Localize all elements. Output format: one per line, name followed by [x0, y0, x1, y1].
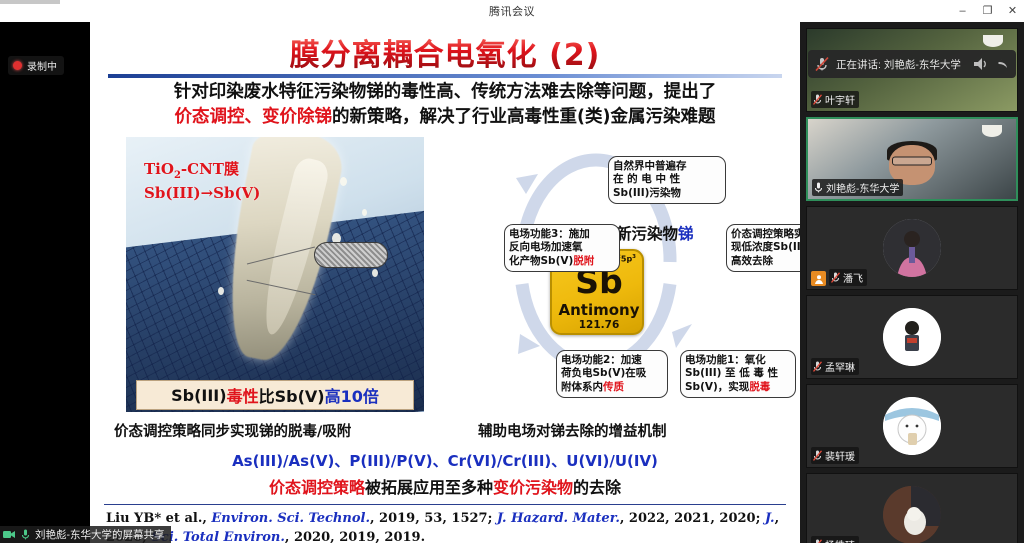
callout-line: 自然界中普遍存	[613, 160, 721, 173]
callout-line: Sb(V)，实现脱毒	[685, 381, 791, 394]
participant-name-chip: 潘飞	[829, 269, 867, 286]
presentation-slide: 膜分离耦合电氧化 (2) 针对印染废水特征污染物锑的毒性高、传统方法难去除等问题…	[90, 22, 800, 543]
shared-screen-stage: 录制中 膜分离耦合电氧化 (2) 针对印染废水特征污染物锑的毒性高、传统方法难去…	[0, 22, 800, 543]
element-name: Antimony	[552, 301, 646, 319]
callout-line-text: 附体系内	[561, 381, 603, 393]
callout-red: 脱附	[573, 255, 594, 267]
new-pollutant-text: 新污染物	[616, 225, 678, 243]
membrane-photo: TiO2-CNT膜 Sb(III)→Sb(V)	[126, 137, 424, 412]
droplet-icon	[372, 269, 378, 277]
citation-detail: , 2022, 2021, 2020;	[620, 511, 765, 526]
participant-name: 叶宇轩	[825, 92, 855, 107]
citation-detail: , 2020, 2019, 2019.	[285, 530, 425, 543]
subtitle-line-2-rest: 的新策略，解决了行业高毒性重(类)金属污染难题	[332, 107, 716, 127]
window-controls: – ❐ ✕	[957, 0, 1018, 22]
participant-tile[interactable]: 杨皓琦	[806, 473, 1018, 543]
participant-tiles: 叶宇轩 刘艳彪-东华大学	[800, 22, 1024, 543]
participant-name: 孟罕琳	[825, 359, 855, 374]
caption-right: 辅助电场对锑去除的增益机制	[478, 420, 667, 441]
callout-line: 现低浓度Sb(III)	[731, 241, 800, 254]
participant-tile[interactable]: 潘飞	[806, 206, 1018, 290]
citation-divider	[104, 504, 786, 505]
citation-detail: , 2019, 53, 1527;	[370, 511, 497, 526]
mic-icon	[19, 529, 31, 541]
conclusion-line: 价态调控策略被拓展应用至多种变价污染物的去除	[90, 474, 800, 498]
avatar	[883, 219, 941, 277]
callout-field-function-1: 电场功能1：氧化 Sb(III) 至 低 毒 性 Sb(V)，实现脱毒	[680, 350, 796, 398]
callout-line: 在 的 电 中 性	[613, 173, 721, 186]
toxicity-blue: 高10倍	[325, 383, 379, 407]
close-icon[interactable]: ✕	[1007, 6, 1018, 17]
callout-line: 化产物Sb(V)脱附	[509, 255, 615, 268]
tio2-suffix: -CNT膜	[181, 160, 239, 178]
recording-label: 录制中	[27, 58, 57, 73]
participant-name: 裴轩瑗	[825, 448, 855, 463]
callout-field-function-2: 电场功能2：加速 荷负电Sb(V)在吸 附体系内传质	[556, 350, 668, 398]
participant-name: 潘飞	[843, 270, 863, 285]
conclusion-end: 的去除	[573, 478, 621, 497]
volume-icon[interactable]	[972, 56, 988, 72]
camera-icon	[3, 529, 15, 541]
toxicity-callout: Sb(III) 毒性比Sb(V)高10倍	[136, 380, 414, 410]
figure-captions: 价态调控策略同步实现锑的脱毒/吸附 辅助电场对锑去除的增益机制	[90, 420, 800, 444]
callout-line: 附体系内传质	[561, 381, 663, 394]
lamp-highlight	[983, 35, 1003, 47]
mic-muted-icon	[813, 539, 822, 543]
conclusion-red-1: 价态调控策略	[269, 478, 365, 497]
subtitle-line-2: 价态调控、变价除锑的新策略，解决了行业高毒性重(类)金属污染难题	[104, 105, 786, 130]
slide-title: 膜分离耦合电氧化 (2)	[90, 30, 800, 74]
app-title: 腾讯会议	[489, 3, 535, 19]
participant-rail: 叶宇轩 刘艳彪-东华大学	[800, 22, 1024, 543]
callout-line: 价态调控策略实	[731, 228, 800, 241]
subtitle-line-1: 针对印染废水特征污染物锑的毒性高、传统方法难去除等问题，提出了	[104, 80, 786, 105]
tencent-meeting-window: 腾讯会议 – ❐ ✕ 录制中 膜分离耦合电氧化 (2) 针对印染废水特征污染物锑…	[0, 0, 1024, 543]
tio2-subscript: 2	[174, 170, 181, 181]
citation-block: Liu YB* et al., Environ. Sci. Technol., …	[106, 510, 784, 543]
participant-name: 刘艳彪-东华大学	[826, 180, 899, 195]
tio2-prefix: TiO	[144, 160, 174, 178]
callout-line: 电场功能2：加速	[561, 354, 663, 367]
element-mass: 121.76	[552, 319, 646, 331]
toxicity-pre: Sb(III)	[171, 386, 226, 405]
citation-journal: Sci. Total Environ.	[152, 530, 285, 543]
back-arrow-icon[interactable]	[994, 56, 1010, 72]
participant-name-chip: 刘艳彪-东华大学	[812, 179, 903, 196]
participant-name-chip: 杨皓琦	[811, 536, 859, 543]
callout-line: 电场功能3：施加	[509, 228, 615, 241]
mechanism-diagram: 新污染物锑 51 4d105s25p3 Sb Antimony 121.76 自…	[420, 134, 788, 419]
host-badge-icon	[811, 271, 826, 286]
participant-tile-active-speaker[interactable]: 刘艳彪-东华大学	[806, 117, 1018, 201]
citation-journal: J. Hazard. Mater.	[497, 511, 620, 526]
slide-subtitle: 针对印染废水特征污染物锑的毒性高、传统方法难去除等问题，提出了 价态调控、变价除…	[104, 80, 786, 131]
callout-field-function-3: 电场功能3：施加 反向电场加速氧 化产物Sb(V)脱附	[504, 224, 620, 272]
extension-species-line: As(III)/As(V)、P(III)/P(V)、Cr(VI)/Cr(III)…	[90, 450, 800, 471]
citation-journal: Environ. Sci. Technol.	[211, 511, 370, 526]
callout-line: 荷负电Sb(V)在吸	[561, 367, 663, 380]
callout-line: 高效去除	[731, 255, 800, 268]
conclusion-mid: 被拓展应用至多种	[365, 478, 493, 497]
callout-valence-strategy: 价态调控策略实 现低浓度Sb(III) 高效去除	[726, 224, 800, 272]
glasses-icon	[892, 156, 932, 165]
conclusion-red-2: 变价污染物	[493, 478, 573, 497]
participant-tile[interactable]: 孟罕琳	[806, 295, 1018, 379]
photo-annotation: TiO2-CNT膜 Sb(III)→Sb(V)	[144, 159, 260, 203]
participant-tile[interactable]: 裴轩瑗	[806, 384, 1018, 468]
cfg-sup-3: 3	[632, 254, 636, 260]
window-title-bar: 腾讯会议 – ❐ ✕	[0, 0, 1024, 22]
callout-natural-sb3: 自然界中普遍存 在 的 电 中 性 Sb(III)污染物	[608, 156, 726, 204]
mic-muted-icon	[813, 94, 822, 105]
subtitle-highlight: 价态调控、变价除锑	[175, 107, 333, 127]
toxicity-mid: 比Sb(V)	[259, 383, 325, 407]
citation-authors: Liu YB* et al.,	[106, 511, 211, 526]
participant-name-chip: 孟罕琳	[811, 358, 859, 375]
callout-line: Sb(III) 至 低 毒 性	[685, 367, 791, 380]
callout-red: 传质	[603, 381, 624, 393]
new-pollutant-label: 新污染物锑	[616, 222, 694, 244]
active-speaker-label: 正在讲话: 刘艳彪-东华大学	[836, 57, 966, 72]
share-footer-label: 刘艳彪-东华大学的屏幕共享	[35, 527, 165, 542]
callout-line: 电场功能1：氧化	[685, 354, 791, 367]
citation-journal: J.	[765, 511, 775, 526]
maximize-icon[interactable]: ❐	[982, 6, 993, 17]
avatar	[883, 486, 941, 543]
participant-name-chip: 裴轩瑗	[811, 447, 859, 464]
avatar	[883, 308, 941, 366]
photo-annotation-line-2: Sb(III)→Sb(V)	[144, 183, 260, 203]
droplet-icon	[340, 177, 347, 186]
title-divider	[108, 74, 782, 78]
droplet-icon	[218, 287, 224, 295]
record-dot-icon	[13, 61, 22, 70]
window-tab-stub	[0, 0, 60, 4]
mic-muted-icon	[831, 272, 840, 283]
callout-line: 反向电场加速氧	[509, 241, 615, 254]
minimize-icon[interactable]: –	[957, 6, 968, 17]
new-pollutant-highlight: 锑	[678, 225, 694, 243]
mic-muted-icon	[813, 450, 822, 461]
mic-speaking-icon	[814, 56, 830, 72]
droplet-icon	[362, 209, 367, 216]
mic-muted-icon	[813, 361, 822, 372]
avatar	[883, 397, 941, 455]
callout-red: 脱毒	[749, 381, 770, 393]
recording-indicator: 录制中	[8, 56, 64, 75]
photo-annotation-line-1: TiO2-CNT膜	[144, 159, 260, 183]
active-speaker-banner: 正在讲话: 刘艳彪-东华大学	[808, 50, 1016, 78]
mic-on-icon	[814, 182, 823, 193]
callout-line-text: Sb(V)，实现	[685, 381, 749, 393]
screen-share-footer: 刘艳彪-东华大学的屏幕共享	[0, 526, 171, 543]
participant-name: 杨皓琦	[825, 537, 855, 543]
toxicity-red: 毒性	[227, 383, 259, 407]
callout-line-text: 化产物Sb(V)	[509, 255, 573, 267]
lamp-highlight	[982, 125, 1002, 137]
callout-line: Sb(III)污染物	[613, 187, 721, 200]
participant-name-chip: 叶宇轩	[811, 91, 859, 108]
membrane-tube-graphic	[314, 242, 388, 268]
caption-left: 价态调控策略同步实现锑的脱毒/吸附	[114, 420, 351, 441]
